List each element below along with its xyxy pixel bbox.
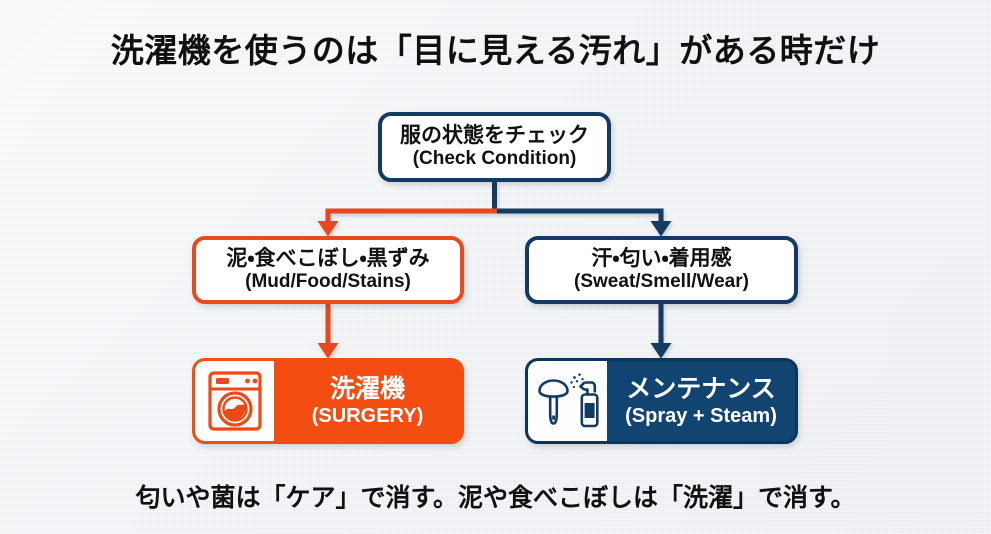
- node-result-washer-jp: 洗濯機: [330, 376, 405, 403]
- node-result-washer-text: 洗濯機 (SURGERY): [274, 376, 461, 427]
- node-result-maintenance-text: メンテナンス (Spray + Steam): [607, 376, 795, 427]
- node-check-condition[interactable]: 服の状態をチェック (Check Condition): [378, 112, 611, 182]
- node-condition-sweat-en: (Sweat/Smell/Wear): [574, 271, 749, 293]
- washing-machine-icon: [206, 370, 264, 432]
- node-result-maintenance-en: (Spray + Steam): [625, 405, 777, 427]
- arrowhead-to-sweat: [651, 221, 672, 237]
- node-result-maintenance[interactable]: メンテナンス (Spray + Steam): [525, 358, 798, 444]
- footer-caption: 匂いや菌は「ケア」で消す。泥や食べこぼしは「洗濯」で消す。: [0, 478, 991, 514]
- flow-connectors: [0, 0, 991, 534]
- maintenance-icon-panel: [528, 361, 607, 441]
- node-condition-sweat-jp: 汗・匂い・着用感: [591, 247, 731, 271]
- node-condition-dirt-jp: 泥・食べこぼし・黒ずみ: [226, 247, 429, 271]
- node-result-washer[interactable]: 洗濯機 (SURGERY): [192, 358, 464, 444]
- diagram-canvas: 洗濯機を使うのは「目に見える汚れ」がある時だけ 服の状態をチェック: [0, 0, 991, 534]
- node-condition-sweat[interactable]: 汗・匂い・着用感 (Sweat/Smell/Wear): [525, 236, 798, 304]
- node-result-maintenance-jp: メンテナンス: [626, 376, 776, 403]
- arrowhead-to-maintenance: [651, 343, 672, 359]
- arrowhead-to-washer: [318, 343, 339, 359]
- node-condition-dirt[interactable]: 泥・食べこぼし・黒ずみ (Mud/Food/Stains): [192, 236, 464, 304]
- node-condition-dirt-en: (Mud/Food/Stains): [245, 271, 411, 293]
- page-title: 洗濯機を使うのは「目に見える汚れ」がある時だけ: [0, 24, 991, 72]
- connector-root-to-sweat: [492, 211, 661, 222]
- washer-icon-panel: [195, 361, 274, 441]
- node-check-condition-en: (Check Condition): [413, 148, 577, 170]
- node-check-condition-jp: 服の状態をチェック: [400, 124, 589, 148]
- connector-root-to-dirt: [328, 211, 497, 222]
- arrowhead-to-dirt: [318, 221, 339, 237]
- node-result-washer-en: (SURGERY): [312, 405, 423, 427]
- steamer-spray-icon: [536, 370, 600, 432]
